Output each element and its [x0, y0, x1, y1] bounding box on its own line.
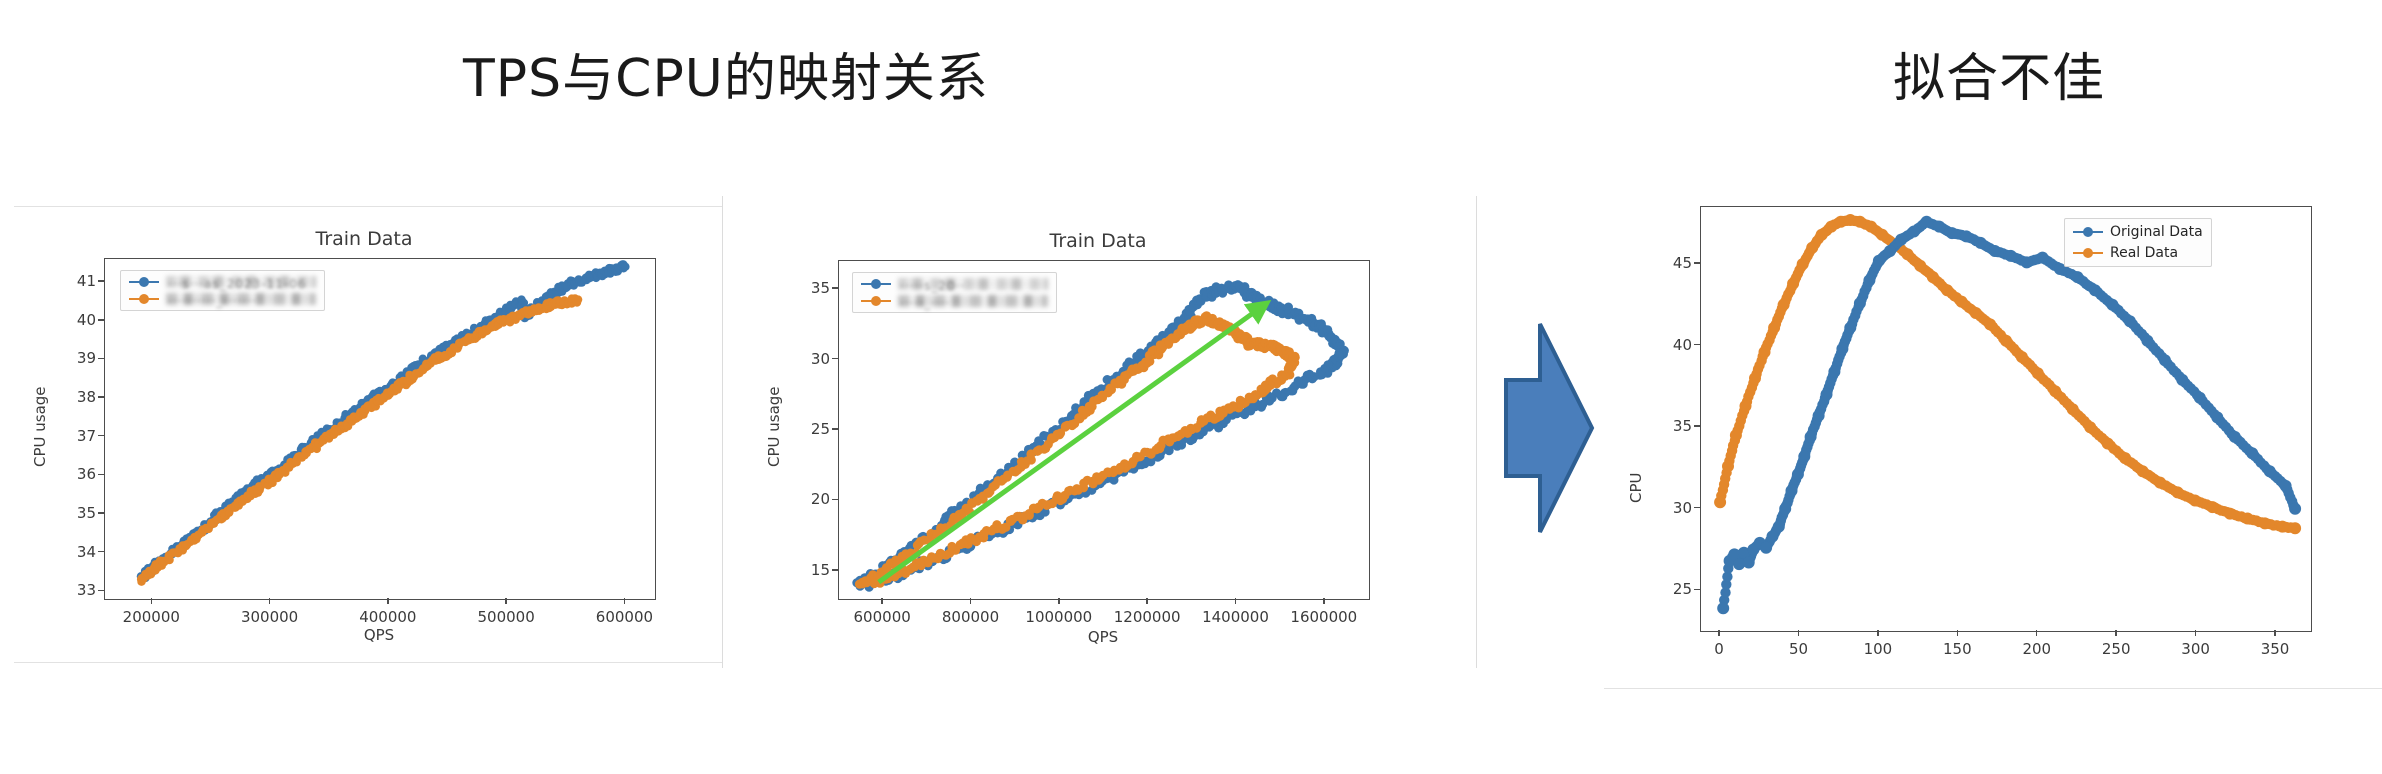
chart3-canvas [1701, 207, 2311, 631]
x-tick-mark [1877, 630, 1878, 636]
legend-label-redacted-2: ··········_······· [166, 293, 316, 305]
legend-marker-blue [129, 277, 159, 287]
x-tick-mark [2195, 630, 2196, 636]
legend-label-redacted-2: ·····_···· [898, 295, 1048, 307]
y-tick-label: 40 [58, 311, 96, 329]
chart1-legend-ghost-2: ··········_······· [168, 294, 257, 308]
x-tick-mark [624, 598, 625, 604]
y-tick-label: 20 [792, 490, 830, 508]
x-tick-mark [505, 598, 506, 604]
x-tick-mark [269, 598, 270, 604]
chart2-legend-ghost-2: ·····_···· [900, 296, 950, 310]
y-tick-label: 15 [792, 561, 830, 579]
y-tick-mark [98, 512, 104, 513]
legend-label-redacted-1: ···s···as_2023-11-06 [166, 276, 316, 288]
chart3-ylabel: CPU [1627, 403, 1645, 503]
chart1-xlabel: QPS [104, 626, 654, 644]
chart2-legend-ghost-1: ·····s_20·· [900, 279, 965, 293]
panel-divider-1 [722, 196, 723, 668]
y-tick-label: 33 [58, 581, 96, 599]
chart1-legend-ghost-1: ···s···as_2023-11-06 [168, 277, 306, 291]
y-tick-label: 35 [1654, 417, 1692, 435]
y-tick-mark [832, 287, 838, 288]
y-tick-mark [98, 435, 104, 436]
chart2-ylabel: CPU usage [765, 367, 783, 467]
chart3-legend: Original Data Real Data [2064, 218, 2212, 267]
y-tick-mark [98, 551, 104, 552]
x-tick-mark [151, 598, 152, 604]
x-tick-label: 600000 [554, 608, 694, 626]
x-tick-mark [1323, 598, 1324, 604]
x-tick-mark [2115, 630, 2116, 636]
chart3-legend-label-2: Real Data [2110, 245, 2178, 261]
y-tick-label: 45 [1654, 254, 1692, 272]
y-tick-label: 35 [792, 279, 830, 297]
chart1-ylabel: CPU usage [31, 367, 49, 467]
y-tick-label: 34 [58, 543, 96, 561]
chart2-legend-row-2: ·····_···· [861, 295, 1048, 307]
chart-cpu-fit-comparison: CPU 2530354045050100150200250300350 Orig… [1604, 196, 2382, 666]
x-tick-label: 350 [2205, 640, 2345, 658]
y-tick-mark [98, 590, 104, 591]
legend-marker-orange [2073, 248, 2103, 258]
y-tick-label: 25 [1654, 580, 1692, 598]
x-tick-mark [1235, 598, 1236, 604]
y-tick-label: 41 [58, 272, 96, 290]
chart3-legend-label-1: Original Data [2110, 224, 2203, 240]
x-tick-mark [1957, 630, 1958, 636]
panel-divider-2 [1476, 196, 1477, 668]
y-tick-mark [1694, 425, 1700, 426]
chart3-legend-row-1: Original Data [2073, 224, 2203, 240]
y-tick-label: 37 [58, 427, 96, 445]
chart2-legend: ·····s_20·· ·····_···· [852, 272, 1057, 313]
page-title-right: 拟合不佳 [1893, 36, 2105, 111]
x-tick-mark [387, 598, 388, 604]
y-tick-label: 39 [58, 349, 96, 367]
chart1-legend: ···s···as_2023-11-06 ··········_······· [120, 270, 325, 311]
y-tick-mark [832, 358, 838, 359]
y-tick-label: 36 [58, 465, 96, 483]
y-tick-mark [98, 280, 104, 281]
chart3-plot-area [1700, 206, 2312, 632]
x-tick-mark [2274, 630, 2275, 636]
y-tick-label: 30 [1654, 499, 1692, 517]
panel-rule-bottom [14, 662, 722, 663]
page-title-left: TPS与CPU的映射关系 [463, 36, 989, 111]
y-tick-mark [1694, 507, 1700, 508]
x-tick-mark [1146, 598, 1147, 604]
right-block-arrow-icon [1492, 318, 1602, 538]
chart1-title: Train Data [14, 228, 714, 250]
legend-marker-blue [861, 279, 891, 289]
chart1-legend-row-1: ···s···as_2023-11-06 [129, 276, 316, 288]
y-tick-mark [98, 396, 104, 397]
x-tick-mark [1718, 630, 1719, 636]
chart3-legend-row-2: Real Data [2073, 245, 2203, 261]
legend-label-redacted-1: ·····s_20·· [898, 278, 1048, 290]
slide-canvas: TPS与CPU的映射关系 拟合不佳 Train Data CPU usage Q… [0, 0, 2382, 774]
chart-train-data-linear: Train Data CPU usage QPS 333435363738394… [14, 218, 714, 658]
y-tick-mark [98, 358, 104, 359]
x-tick-mark [1798, 630, 1799, 636]
y-tick-mark [1694, 344, 1700, 345]
y-tick-mark [832, 428, 838, 429]
x-tick-mark [881, 598, 882, 604]
green-trend-arrow [879, 307, 1261, 582]
x-tick-label: 1600000 [1254, 608, 1394, 626]
panel-rule-top [14, 206, 722, 207]
x-tick-mark [970, 598, 971, 604]
x-tick-mark [2036, 630, 2037, 636]
legend-marker-orange [129, 294, 159, 304]
y-tick-mark [832, 569, 838, 570]
legend-marker-blue [2073, 227, 2103, 237]
chart-train-data-hysteresis: Train Data CPU usage QPS 152025303560000… [748, 218, 1448, 658]
chart2-xlabel: QPS [838, 628, 1368, 646]
chart2-legend-row-1: ·····s_20·· [861, 278, 1048, 290]
y-tick-label: 25 [792, 420, 830, 438]
legend-marker-orange [861, 296, 891, 306]
x-tick-mark [1058, 598, 1059, 604]
y-tick-mark [1694, 589, 1700, 590]
y-tick-mark [98, 474, 104, 475]
y-tick-label: 35 [58, 504, 96, 522]
y-tick-label: 40 [1654, 336, 1692, 354]
panel-rule-right [1604, 688, 2382, 689]
y-tick-mark [1694, 262, 1700, 263]
chart2-title: Train Data [748, 230, 1448, 252]
y-tick-label: 30 [792, 350, 830, 368]
y-tick-mark [832, 499, 838, 500]
chart1-legend-row-2: ··········_······· [129, 293, 316, 305]
y-tick-label: 38 [58, 388, 96, 406]
y-tick-mark [98, 319, 104, 320]
